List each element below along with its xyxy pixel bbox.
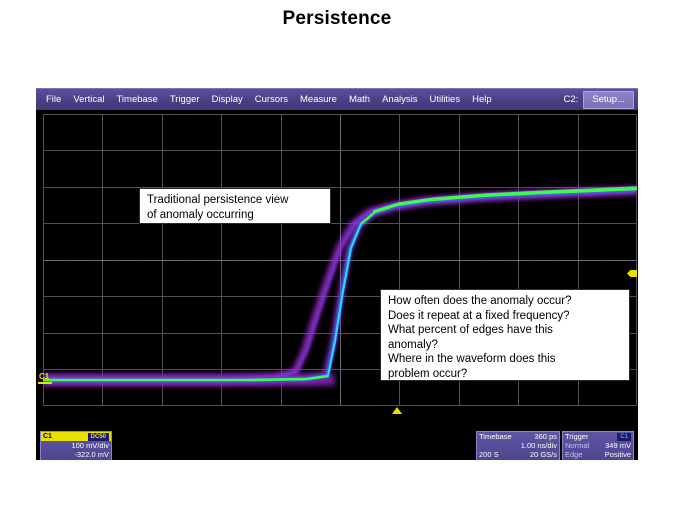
channel-reference-bar	[38, 382, 52, 384]
callout-line: of anomaly occurring	[147, 208, 323, 223]
callout-line: How often does the anomaly occur?	[388, 294, 622, 309]
callout-line: Traditional persistence view	[147, 193, 323, 208]
channel-offset-row: -322.0 mV	[41, 450, 111, 459]
menu-bar: File Vertical Timebase Trigger Display C…	[36, 88, 638, 110]
timebase-acquisition-row: 200 S 20 GS/s	[477, 450, 559, 459]
menu-item-utilities[interactable]: Utilities	[423, 89, 466, 111]
channel-coupling-badge: DC50	[88, 433, 109, 441]
callout-line: What percent of edges have this	[388, 323, 622, 338]
timebase-time-per-div: 1.00 ns/div	[521, 441, 557, 450]
callout-line: anomaly?	[388, 338, 622, 353]
trigger-source-badge: C1	[617, 433, 631, 441]
callout-questions: How often does the anomaly occur? Does i…	[380, 289, 630, 381]
timebase-title: Timebase	[479, 432, 512, 441]
timebase-sample-count: 200 S	[479, 450, 499, 459]
trigger-mode-row: Normal 349 mV	[563, 441, 633, 450]
channel-offset: -322.0 mV	[74, 450, 109, 459]
menu-item-cursors[interactable]: Cursors	[249, 89, 294, 111]
menu-item-trigger[interactable]: Trigger	[164, 89, 206, 111]
trigger-descriptor[interactable]: Trigger C1 Normal 349 mV Edge Positive	[562, 431, 634, 460]
channel-name: C1	[43, 432, 52, 441]
timebase-descriptor-header: Timebase 360 ps	[477, 432, 559, 441]
page-title: Persistence	[0, 8, 674, 30]
trigger-title: Trigger	[565, 432, 588, 441]
channel-descriptor-c1[interactable]: C1 DC50 100 mV/div -322.0 mV	[40, 431, 112, 460]
menu-item-math[interactable]: Math	[343, 89, 376, 111]
menu-item-file[interactable]: File	[36, 89, 67, 111]
status-bar: C1 DC50 100 mV/div -322.0 mV Timebase 36…	[36, 428, 638, 460]
menu-item-measure[interactable]: Measure	[294, 89, 343, 111]
trigger-type-row: Edge Positive	[563, 450, 633, 459]
graticule-area[interactable]: C1 C1 DC50 100 mV/div -3	[36, 110, 638, 460]
trigger-position-marker-icon[interactable]	[392, 407, 402, 414]
callout-line: Does it repeat at a fixed frequency?	[388, 309, 622, 324]
trigger-level: 349 mV	[605, 441, 631, 450]
channel-reference-marker-c1[interactable]: C1	[37, 373, 53, 384]
menu-item-help[interactable]: Help	[466, 89, 498, 111]
channel-reference-label: C1	[37, 373, 53, 381]
oscilloscope-window: File Vertical Timebase Trigger Display C…	[36, 88, 638, 460]
menu-item-display[interactable]: Display	[206, 89, 249, 111]
trigger-level-marker-icon[interactable]	[627, 268, 638, 279]
active-channel-label: C2:	[563, 94, 583, 105]
callout-line: problem occur?	[388, 367, 622, 382]
menu-item-vertical[interactable]: Vertical	[67, 89, 110, 111]
timebase-sample-rate: 20 GS/s	[530, 450, 557, 459]
channel-volts-per-div: 100 mV/div	[71, 441, 109, 450]
trigger-descriptor-header: Trigger C1	[563, 432, 633, 441]
trigger-slope: Positive	[605, 450, 631, 459]
channel-volts-per-div-row: 100 mV/div	[41, 441, 111, 450]
channel-descriptor-header: C1 DC50	[41, 432, 111, 441]
menu-bar-right-group: C2: Setup...	[563, 91, 638, 109]
callout-line: Where in the waveform does this	[388, 352, 622, 367]
timebase-descriptor[interactable]: Timebase 360 ps 1.00 ns/div 200 S 20 GS/…	[476, 431, 560, 460]
callout-persistence-view: Traditional persistence view of anomaly …	[139, 188, 331, 224]
menu-item-timebase[interactable]: Timebase	[110, 89, 163, 111]
menu-item-analysis[interactable]: Analysis	[376, 89, 423, 111]
trigger-type: Edge	[565, 450, 583, 459]
timebase-scale-row: 1.00 ns/div	[477, 441, 559, 450]
timebase-delay: 360 ps	[534, 432, 557, 441]
trigger-mode: Normal	[565, 441, 589, 450]
setup-button[interactable]: Setup...	[583, 91, 634, 109]
